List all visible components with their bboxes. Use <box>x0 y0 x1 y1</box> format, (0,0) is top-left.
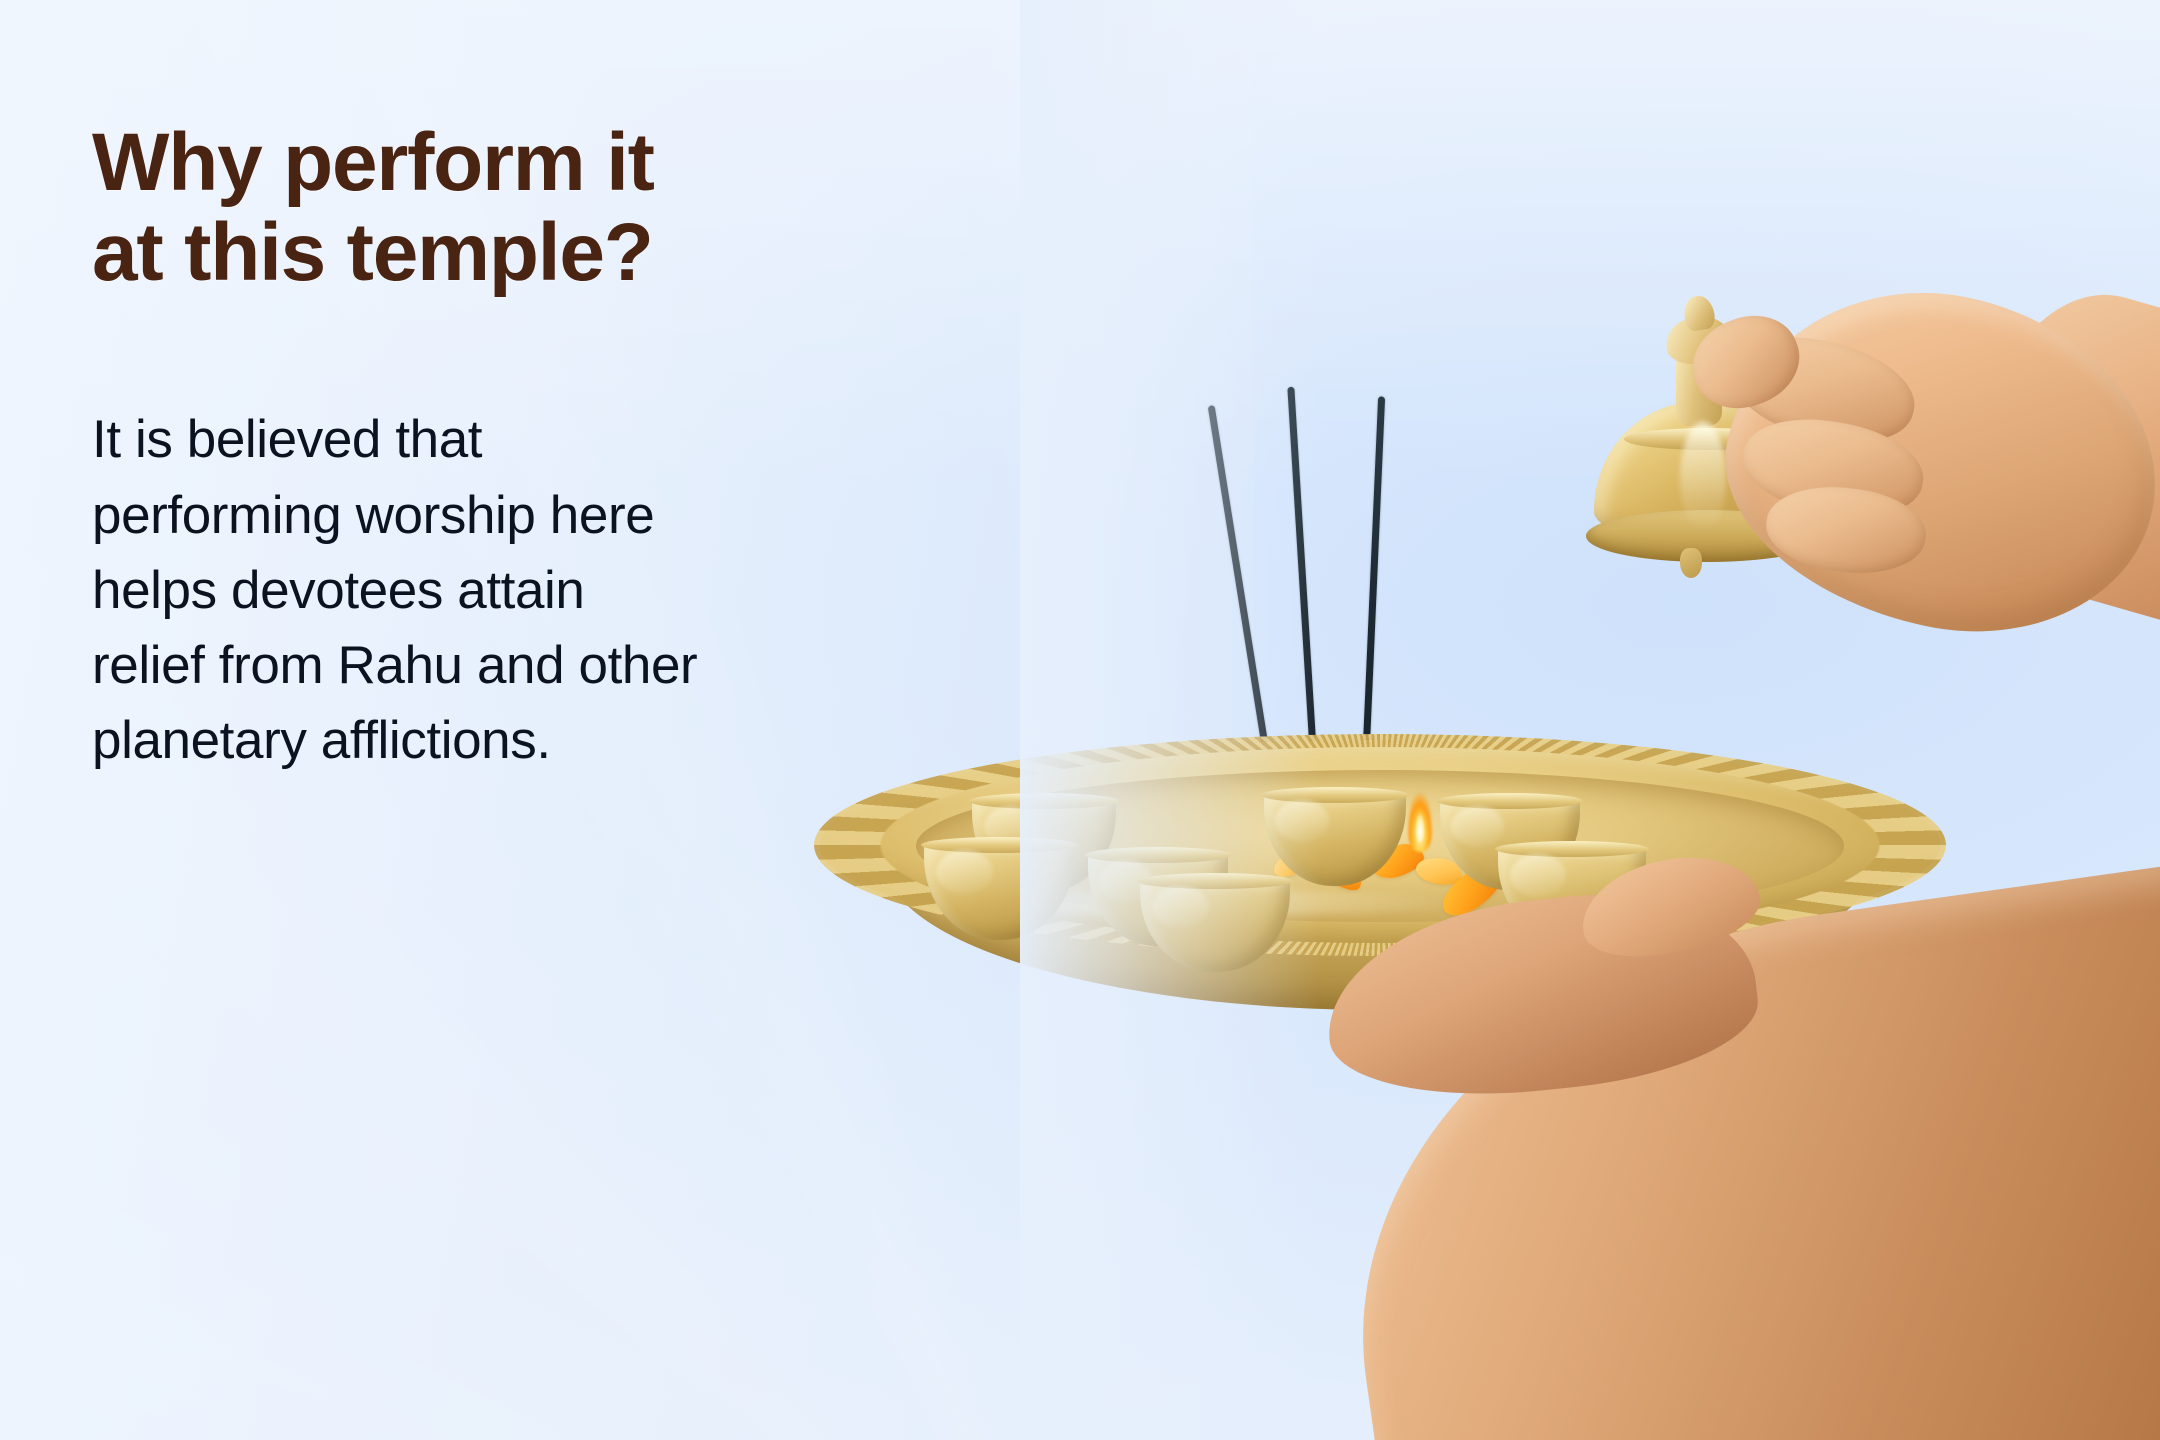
slide-canvas: Why perform it at this temple? It is bel… <box>0 0 2160 1440</box>
diya-flame-core <box>1415 808 1425 842</box>
bell-clapper <box>1680 548 1702 578</box>
body-paragraph: It is believed that performing worship h… <box>92 402 1012 778</box>
page-title: Why perform it at this temple? <box>92 118 1102 298</box>
bell-highlight <box>1680 422 1726 532</box>
puja-thali-photo <box>1020 0 2160 1440</box>
text-column: Why perform it at this temple? It is bel… <box>92 118 1102 779</box>
upper-hand-with-bell <box>1580 274 2160 794</box>
